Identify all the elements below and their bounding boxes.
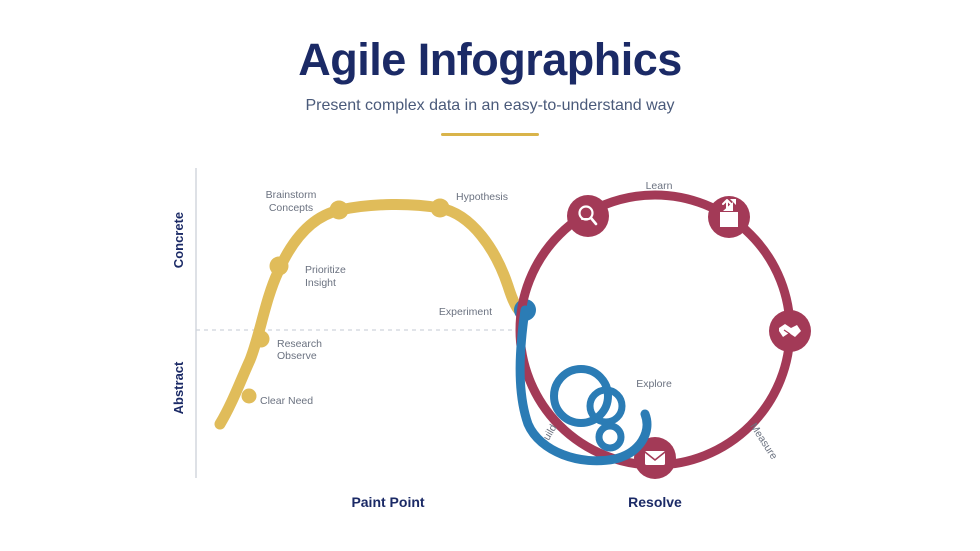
label-measure: Measure	[747, 421, 779, 462]
label-learn: Learn	[646, 180, 673, 192]
infographic-slide: Agile Infographics Present complex data …	[0, 0, 980, 551]
node-clear-need[interactable]	[242, 389, 257, 404]
axis-label-abstract: Abstract	[171, 361, 186, 414]
node-hypothesis[interactable]	[431, 199, 450, 218]
icon-node-handshake[interactable]	[769, 310, 811, 352]
label-research: Research	[277, 338, 322, 350]
icon-node-search[interactable]	[567, 195, 609, 237]
label-brainstorm: Brainstorm	[266, 189, 317, 201]
axis-label-concrete: Concrete	[171, 212, 186, 268]
phase-label-paint-point: Paint Point	[351, 494, 424, 510]
label-concepts: Concepts	[269, 202, 313, 214]
label-clear-need: Clear Need	[260, 395, 313, 407]
label-observe: Observe	[277, 350, 317, 362]
agile-diagram: Concrete Abstract Clear Need Research Ob…	[0, 0, 980, 551]
node-brainstorm-concepts[interactable]	[330, 201, 349, 220]
right-maroon-circle	[520, 195, 790, 465]
icon-node-upload-chart[interactable]	[708, 196, 750, 238]
blue-spiral	[520, 310, 647, 461]
label-hypothesis: Hypothesis	[456, 191, 508, 203]
node-research-observe[interactable]	[253, 331, 270, 348]
label-insight: Insight	[305, 277, 336, 289]
label-experiment: Experiment	[439, 306, 492, 318]
label-prioritize: Prioritize	[305, 264, 346, 276]
node-prioritize-insight[interactable]	[270, 257, 289, 276]
label-explore: Explore	[636, 378, 672, 390]
phase-label-resolve: Resolve	[628, 494, 682, 510]
